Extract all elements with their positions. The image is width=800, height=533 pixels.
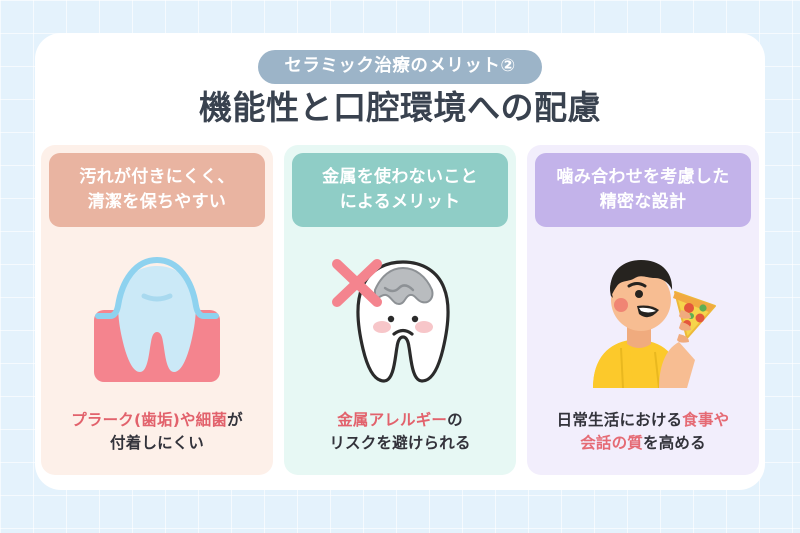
- card-header-line-2: 清潔を保ちやすい: [55, 190, 259, 215]
- card-caption-cleanliness: プラーク(歯垢)や細菌が 付着しにくい: [41, 409, 273, 476]
- person-eating-pizza-icon: [563, 248, 723, 388]
- section-badge: セラミック治療のメリット②: [258, 50, 541, 84]
- benefit-card-metal-free: 金属を使わないこと によるメリット: [284, 145, 516, 475]
- card-header-line-1: 金属を使わないこと: [298, 165, 502, 190]
- caption-line-2: 付着しにくい: [41, 432, 273, 455]
- badge-container: セラミック治療のメリット②: [35, 50, 765, 84]
- illustration-area-precise-bite: [527, 227, 759, 408]
- card-caption-precise-bite: 日常生活における食事や 会話の質を高める: [527, 409, 759, 476]
- page-title: 機能性と口腔環境への配慮: [35, 87, 765, 128]
- pizza-slice-icon: [673, 292, 715, 338]
- content-panel: セラミック治療のメリット② 機能性と口腔環境への配慮 汚れが付きにくく、 清潔を…: [35, 33, 765, 490]
- card-header-cleanliness: 汚れが付きにくく、 清潔を保ちやすい: [49, 153, 265, 227]
- caption-line-2: 会話の質を高める: [527, 432, 759, 455]
- tooth-in-gum-icon: [82, 248, 232, 388]
- card-header-metal-free: 金属を使わないこと によるメリット: [292, 153, 508, 227]
- caption-post: を高める: [643, 434, 706, 452]
- card-header-precise-bite: 噛み合わせを考慮した 精密な設計: [535, 153, 751, 227]
- caption-highlight: 金属アレルギー: [337, 411, 447, 429]
- caption-line-2: リスクを避けられる: [284, 432, 516, 455]
- card-header-line-2: によるメリット: [298, 190, 502, 215]
- benefit-card-cleanliness: 汚れが付きにくく、 清潔を保ちやすい プラーク(歯垢)や細菌が 付着しにくい: [41, 145, 273, 475]
- illustration-area-cleanliness: [41, 227, 273, 408]
- benefit-card-precise-bite: 噛み合わせを考慮した 精密な設計: [527, 145, 759, 475]
- caption-rest: が: [227, 411, 243, 429]
- card-caption-metal-free: 金属アレルギーの リスクを避けられる: [284, 409, 516, 476]
- caption-line-1: 金属アレルギーの: [284, 409, 516, 432]
- illustration-area-metal-free: [284, 227, 516, 408]
- caption-highlight: プラーク(歯垢)や細菌: [71, 411, 227, 429]
- caption-line-1: 日常生活における食事や: [527, 409, 759, 432]
- sad-tooth-metal-filling-icon: [325, 248, 475, 388]
- caption-rest: の: [447, 411, 463, 429]
- caption-highlight-2: 会話の質: [580, 434, 643, 452]
- card-header-line-1: 噛み合わせを考慮した: [541, 165, 745, 190]
- infographic-canvas: セラミック治療のメリット② 機能性と口腔環境への配慮 汚れが付きにくく、 清潔を…: [0, 0, 800, 533]
- caption-pre: 日常生活における: [557, 411, 683, 429]
- card-header-line-2: 精密な設計: [541, 190, 745, 215]
- caption-highlight: 食事や: [682, 411, 729, 429]
- benefit-card-list: 汚れが付きにくく、 清潔を保ちやすい プラーク(歯垢)や細菌が 付着しにくい: [41, 145, 759, 475]
- card-header-line-1: 汚れが付きにくく、: [55, 165, 259, 190]
- caption-line-1: プラーク(歯垢)や細菌が: [41, 409, 273, 432]
